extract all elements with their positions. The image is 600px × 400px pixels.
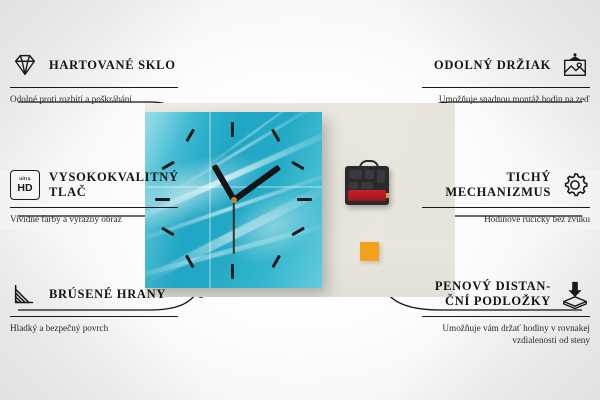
gear-icon bbox=[560, 170, 590, 200]
ultra-hd-badge-icon: ultra HD bbox=[10, 170, 40, 200]
product-infographic: HARTOVANÉ SKLO Odolné proti rozbití a po… bbox=[0, 0, 600, 400]
foam-spacer-icon bbox=[560, 279, 590, 309]
movement-detail bbox=[349, 182, 358, 189]
movement-detail bbox=[361, 182, 373, 189]
feature-title: BRÚSENÉ HRANY bbox=[49, 287, 166, 302]
ultra-hd-main-label: HD bbox=[17, 183, 32, 194]
ultra-hd-top-label: ultra bbox=[19, 177, 30, 182]
clock-tick-3 bbox=[297, 198, 312, 201]
clock-tick-6 bbox=[231, 264, 234, 279]
movement-detail bbox=[377, 170, 385, 183]
feature-header: ODOLNÝ DRŽIAK bbox=[422, 48, 590, 82]
polished-edges-icon bbox=[10, 279, 40, 309]
feature-header: BRÚSENÉ HRANY bbox=[10, 277, 178, 311]
movement-detail bbox=[349, 170, 362, 179]
movement-detail bbox=[365, 170, 374, 179]
foam-spacer-pad bbox=[360, 242, 379, 261]
feature-description: Odolné proti rozbití a poškrábání bbox=[10, 93, 178, 105]
feature-description: Hladký a bezpečný povrch bbox=[10, 322, 178, 334]
feature-title: TICHÝ MECHANIZMUS bbox=[422, 170, 551, 200]
feature-high-quality-print: ultra HD VYSOKOKVALITNÝ TLAČ Vividné far… bbox=[10, 168, 178, 225]
feature-title: HARTOVANÉ SKLO bbox=[49, 58, 176, 73]
clock-tick-12 bbox=[231, 122, 234, 137]
feature-divider bbox=[10, 316, 178, 317]
feature-header: TICHÝ MECHANIZMUS bbox=[422, 168, 590, 202]
feature-title: ODOLNÝ DRŽIAK bbox=[434, 58, 551, 73]
wall-mount-picture-icon bbox=[560, 50, 590, 80]
feature-description: Hodinové ručičky bez zvuku bbox=[422, 213, 590, 225]
feature-divider bbox=[422, 87, 590, 88]
clock-second-hand bbox=[233, 200, 235, 254]
feature-header: ultra HD VYSOKOKVALITNÝ TLAČ bbox=[10, 168, 178, 202]
feature-divider bbox=[10, 207, 178, 208]
feature-polished-edges: BRÚSENÉ HRANY Hladký a bezpečný povrch bbox=[10, 277, 178, 334]
product-photo bbox=[145, 103, 455, 297]
feature-description: Umožňuje snadnou montáž hodin na zeď bbox=[422, 93, 590, 105]
feature-durable-hanger: ODOLNÝ DRŽIAK Umožňuje snadnou montáž ho… bbox=[422, 48, 590, 105]
diamond-icon bbox=[10, 50, 40, 80]
clock-center-hub bbox=[231, 197, 237, 203]
feature-hardened-glass: HARTOVANÉ SKLO Odolné proti rozbití a po… bbox=[10, 48, 178, 105]
feature-divider bbox=[422, 207, 590, 208]
feature-silent-mechanism: TICHÝ MECHANIZMUS Hodinové ručičky bez z… bbox=[422, 168, 590, 225]
clock-movement bbox=[345, 166, 389, 205]
feature-foam-spacers: PENOVÝ DISTAN-ČNÍ PODLOŽKY Umožňuje vám … bbox=[422, 277, 590, 347]
feature-title: VYSOKOKVALITNÝ TLAČ bbox=[49, 170, 179, 200]
clock-battery bbox=[348, 190, 386, 201]
feature-header: PENOVÝ DISTAN-ČNÍ PODLOŽKY bbox=[422, 277, 590, 311]
feature-divider bbox=[10, 87, 178, 88]
feature-title: PENOVÝ DISTAN-ČNÍ PODLOŽKY bbox=[422, 279, 551, 309]
feature-header: HARTOVANÉ SKLO bbox=[10, 48, 178, 82]
feature-description: Vividné farby a výrazný obraz bbox=[10, 213, 178, 225]
feature-divider bbox=[422, 316, 590, 317]
feature-description: Umožňuje vám držať hodiny v rovnakej vzd… bbox=[422, 322, 590, 347]
